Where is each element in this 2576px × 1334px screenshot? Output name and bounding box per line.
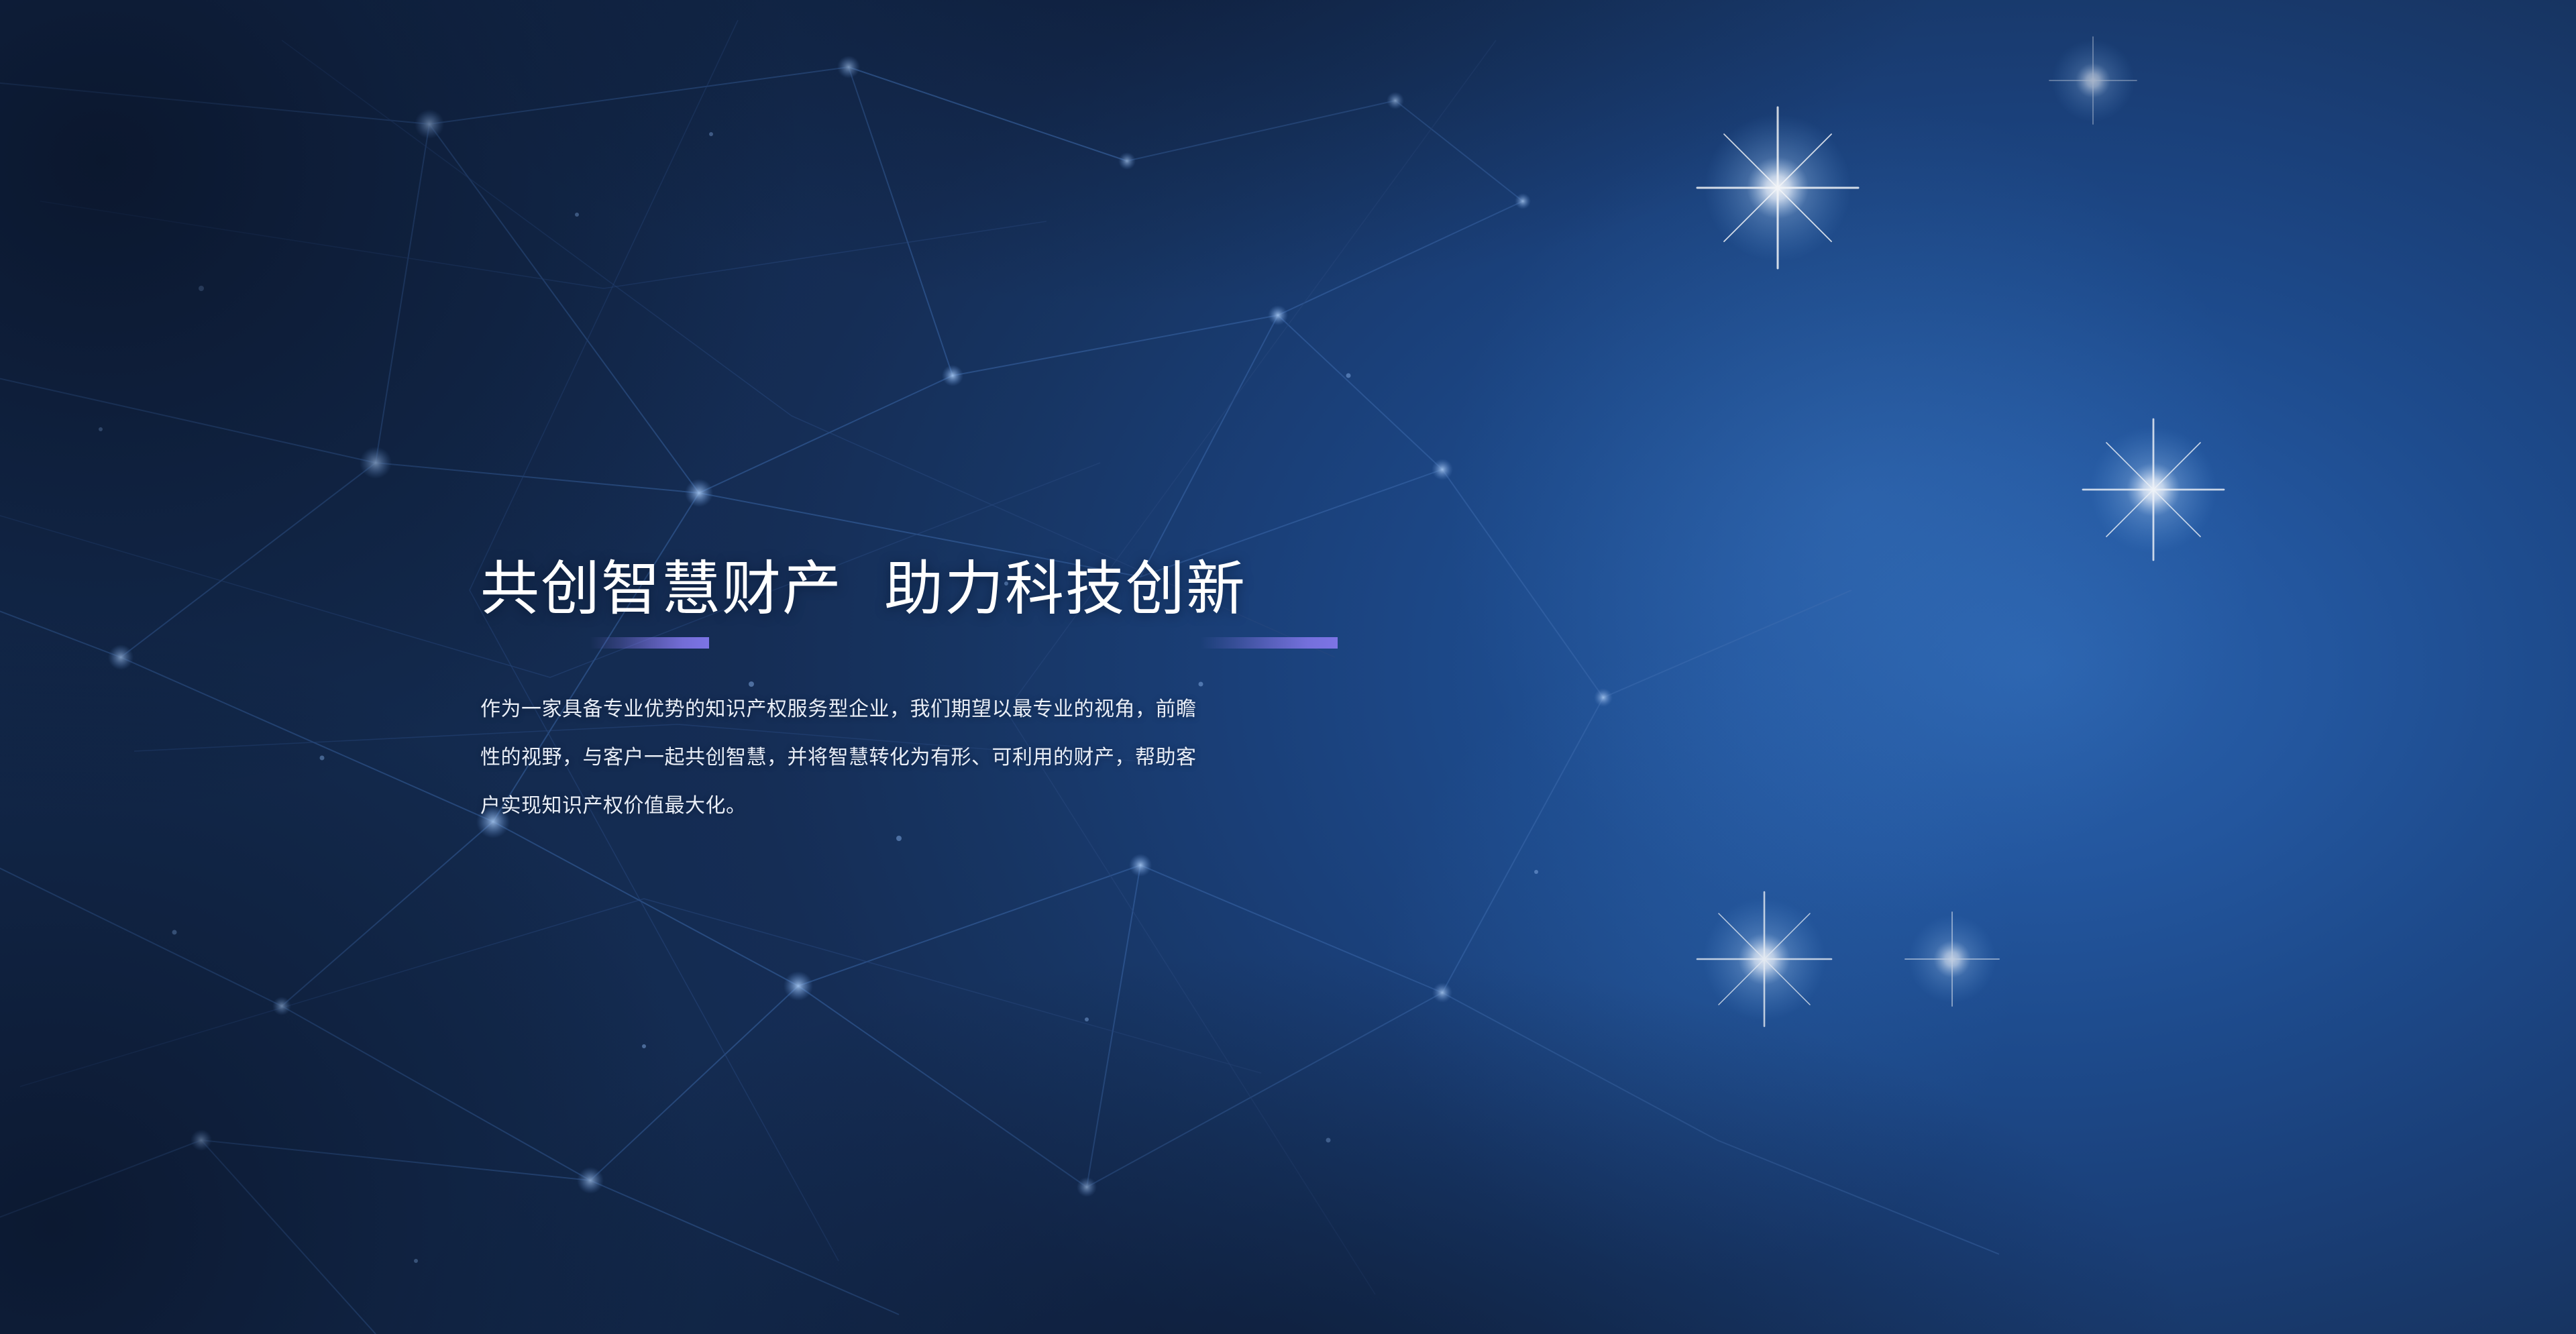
description-line-3: 户实现知识产权价值最大化。 xyxy=(480,782,1279,830)
hero-description: 作为一家具备专业优势的知识产权服务型企业，我们期望以最专业的视角，前瞻 性的视野… xyxy=(480,685,1279,830)
description-line-1: 作为一家具备专业优势的知识产权服务型企业，我们期望以最专业的视角，前瞻 xyxy=(480,685,1279,734)
headline-accent-bar-1 xyxy=(590,637,709,649)
headline-phrase-2: 助力科技创新 xyxy=(884,555,1246,622)
hero-copy: 共创智慧财产助力科技创新 作为一家具备专业优势的知识产权服务型企业，我们期望以最… xyxy=(480,554,1487,624)
headline-phrase-1: 共创智慧财产 xyxy=(480,555,843,622)
description-line-2: 性的视野，与客户一起共创智慧，并将智慧转化为有形、可利用的财产，帮助客 xyxy=(480,734,1279,782)
headline-accent-bar-2 xyxy=(1200,637,1338,649)
page-title: 共创智慧财产助力科技创新 xyxy=(480,554,1487,624)
background-vignette xyxy=(0,0,2576,1334)
hero-banner: 共创智慧财产助力科技创新 作为一家具备专业优势的知识产权服务型企业，我们期望以最… xyxy=(0,0,2576,1334)
